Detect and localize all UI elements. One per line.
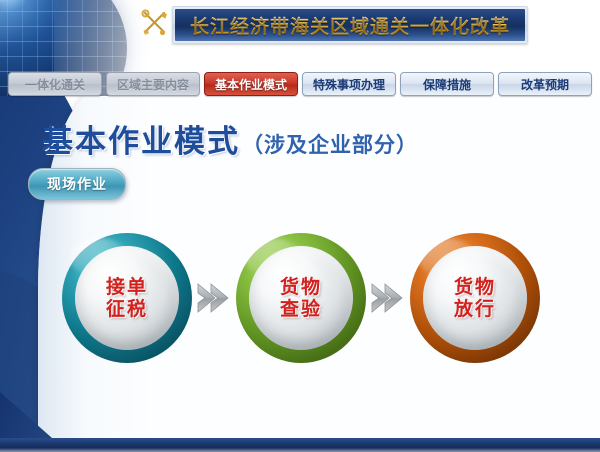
page-title: 基本作业模式 （涉及企业部分） [42, 116, 418, 161]
banner-title-plate: 长江经济带海关区域通关一体化改革 [172, 6, 528, 44]
flow-node-huowu-fangxing[interactable]: 货物 放行 [410, 233, 540, 363]
page-title-sub: （涉及企业部分） [242, 129, 418, 159]
flow-node-label-line1: 货物 [280, 276, 322, 298]
flow-node-label-line2: 征税 [106, 298, 148, 320]
section-tab-bar[interactable]: 一体化通关 区域主要内容 基本作业模式 特殊事项办理 保障措施 改革预期 [8, 72, 592, 96]
flow-node-core: 接单 征税 [75, 246, 179, 350]
onsite-operation-pill-label: 现场作业 [47, 174, 107, 194]
tab-baozhang-cuoshi[interactable]: 保障措施 [400, 72, 494, 96]
tab-jiben-zuoye-moshi[interactable]: 基本作业模式 [204, 72, 298, 96]
slide-body: 基本作业模式 （涉及企业部分） 现场作业 接单 征税 [0, 96, 600, 452]
tab-gaige-yuqi[interactable]: 改革预期 [498, 72, 592, 96]
tab-yitihua-tongguan[interactable]: 一体化通关 [8, 72, 102, 96]
banner-title: 长江经济带海关区域通关一体化改革 [190, 12, 510, 39]
customs-emblem-icon [138, 6, 172, 40]
bottom-bar [0, 438, 600, 452]
flow-node-huowu-chayan[interactable]: 货物 查验 [236, 233, 366, 363]
page-title-main: 基本作业模式 [42, 116, 240, 161]
chevron-right-arrow-icon [366, 282, 410, 314]
flow-node-core: 货物 放行 [423, 246, 527, 350]
flow-node-label-line2: 查验 [280, 298, 322, 320]
process-flow: 接单 征税 [62, 228, 552, 368]
onsite-operation-pill[interactable]: 现场作业 [28, 168, 126, 200]
flow-node-label-line1: 接单 [106, 276, 148, 298]
flow-node-label-line1: 货物 [454, 276, 496, 298]
flow-node-label-line2: 放行 [454, 298, 496, 320]
tab-quyu-zhuyao-neirong[interactable]: 区域主要内容 [106, 72, 200, 96]
flow-node-core: 货物 查验 [249, 246, 353, 350]
chevron-right-arrow-icon [192, 282, 236, 314]
flow-node-jiedan-zhengshui[interactable]: 接单 征税 [62, 233, 192, 363]
tab-teshu-shixiang-banli[interactable]: 特殊事项办理 [302, 72, 396, 96]
presentation-slide: 长江经济带海关区域通关一体化改革 一体化通关 区域主要内容 基本作业模式 特殊事… [0, 0, 600, 452]
